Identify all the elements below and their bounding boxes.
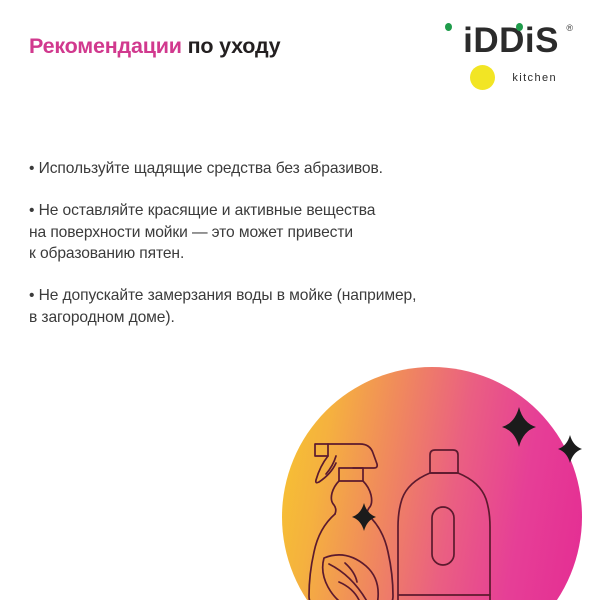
detergent-bottle-icon (398, 450, 490, 600)
logo-dot-icon-first (445, 23, 452, 31)
logo-sub-label: kitchen (512, 72, 557, 84)
registered-trademark-icon: ® (566, 24, 573, 33)
list-item: • Не допускайте замерзания воды в мойке … (29, 285, 534, 329)
logo-sub-label-row: kitchen (437, 65, 557, 91)
care-recommendations-card: Рекомендации по уходу iDDiS ® kitchen • … (0, 0, 600, 600)
page-title-accent: Рекомендации (29, 34, 182, 58)
cleaning-products-illustration (282, 367, 582, 600)
yellow-circle-icon (470, 65, 495, 90)
spray-bottle-icon (309, 444, 393, 600)
list-item: • Не оставляйте красящие и активные веще… (29, 200, 534, 265)
logo-wordmark-text: iDDiS (463, 22, 559, 60)
brand-logo: iDDiS ® kitchen (438, 22, 573, 94)
recommendations-list: • Используйте щадящие средства без абраз… (29, 158, 534, 329)
list-item: • Используйте щадящие средства без абраз… (29, 158, 534, 180)
logo-dot-icon-second (516, 23, 523, 31)
header: Рекомендации по уходу iDDiS ® kitchen (0, 0, 600, 110)
illustration-block (282, 367, 582, 600)
sparkle-stars-icon (352, 407, 582, 531)
page-title: Рекомендации по уходу (29, 36, 280, 58)
page-title-rest: по уходу (182, 34, 281, 58)
